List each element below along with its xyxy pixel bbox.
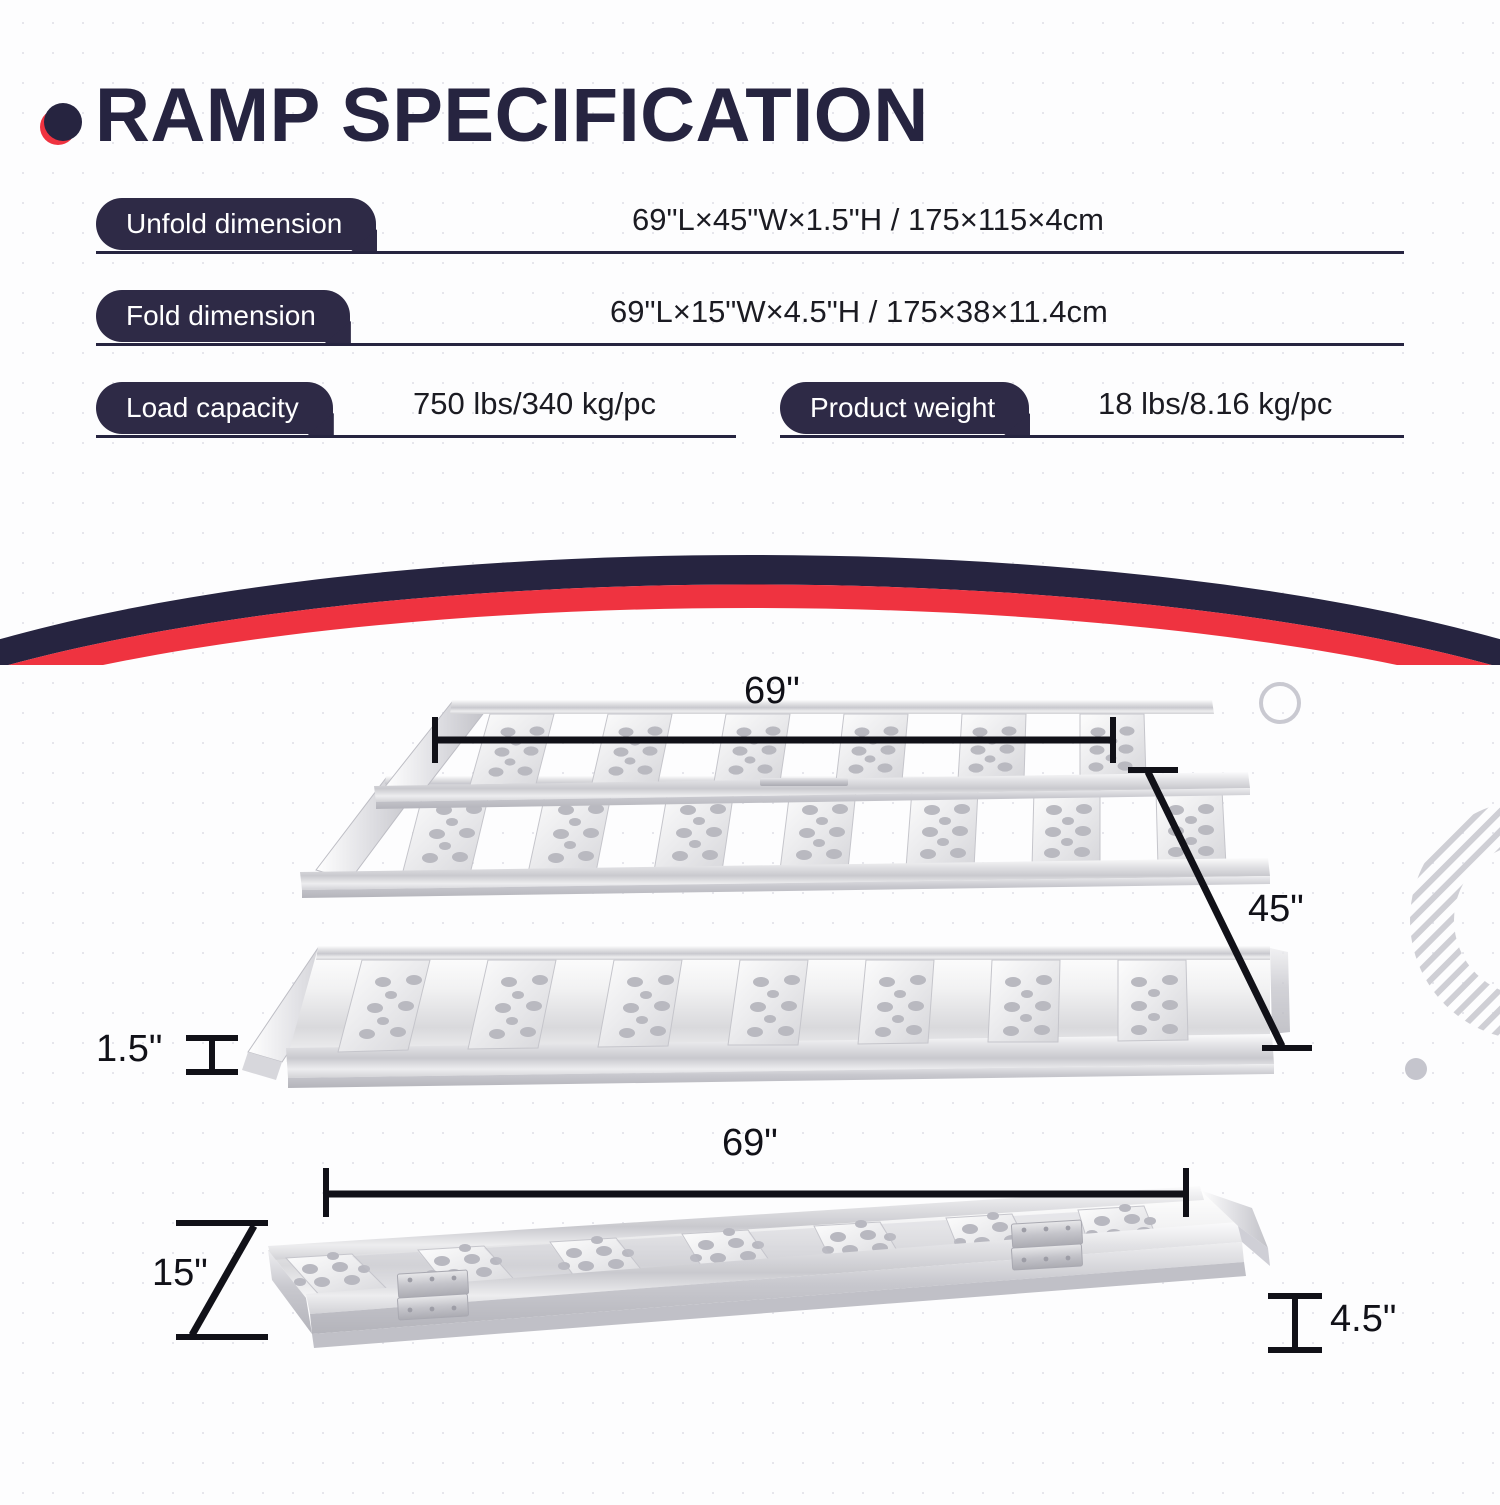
- spec-label-fold-dimension: Fold dimension: [96, 290, 350, 342]
- spec-row-fold-dimension: Fold dimension 69"L×15"W×4.5"H / 175×38×…: [0, 290, 1500, 346]
- decorative-ring-outline: [1259, 682, 1301, 724]
- spec-value-unfold-dimension: 69"L×45"W×1.5"H / 175×115×4cm: [632, 202, 1104, 238]
- dim-label-length-unfolded: 69": [744, 670, 800, 713]
- swoosh-divider: [0, 505, 1500, 665]
- spec-row-underline: [96, 343, 1404, 346]
- spec-label-product-weight: Product weight: [780, 382, 1029, 434]
- dim-label-height-unfolded: 1.5": [96, 1028, 162, 1071]
- spec-value-fold-dimension: 69"L×15"W×4.5"H / 175×38×11.4cm: [610, 294, 1108, 330]
- spec-value-product-weight: 18 lbs/8.16 kg/pc: [1098, 386, 1332, 422]
- swoosh-navy-arc: [0, 555, 1500, 665]
- bullet-navy-circle: [44, 103, 82, 141]
- dim-label-width-unfolded: 45": [1248, 888, 1304, 931]
- hinge-plate-left: [397, 1270, 468, 1320]
- unfolded-ramp-image: [242, 700, 1290, 1088]
- spec-row-underline: [780, 435, 1404, 438]
- ramp-section-front: [242, 946, 1274, 1088]
- product-svg: [0, 660, 1500, 1500]
- dim-label-height-folded: 4.5": [1330, 1298, 1396, 1341]
- product-illustration: 69" 45" 1.5" 69" 15" 4.5": [0, 660, 1500, 1500]
- folded-ramp-image: [268, 1186, 1270, 1348]
- hinge-plate-right: [1011, 1220, 1082, 1270]
- spec-table: Unfold dimension 69"L×45"W×1.5"H / 175×1…: [0, 198, 1500, 448]
- bullet-dot-icon: [40, 103, 80, 143]
- dim-label-width-folded: 15": [152, 1252, 208, 1295]
- spec-row-unfold-dimension: Unfold dimension 69"L×45"W×1.5"H / 175×1…: [0, 198, 1500, 254]
- page-title: RAMP SPECIFICATION: [95, 78, 929, 154]
- decorative-dot: [1405, 1058, 1427, 1080]
- ramp-section-back: [374, 700, 1250, 809]
- spec-row-product-weight: Product weight 18 lbs/8.16 kg/pc: [0, 382, 1500, 438]
- header: RAMP SPECIFICATION: [0, 0, 1500, 190]
- spec-row-underline: [96, 251, 1404, 254]
- spec-label-unfold-dimension: Unfold dimension: [96, 198, 376, 250]
- dim-label-length-folded: 69": [722, 1122, 778, 1165]
